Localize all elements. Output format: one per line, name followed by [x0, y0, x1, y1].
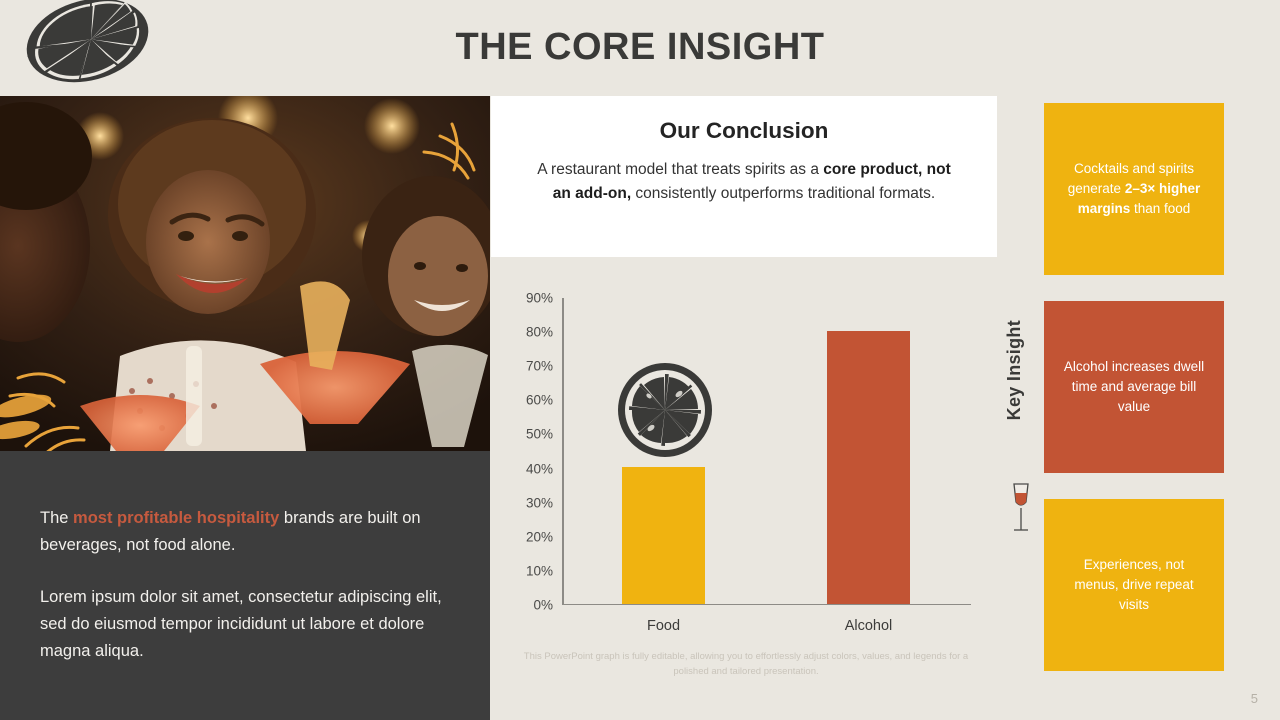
- wine-glass-icon: [1008, 480, 1034, 540]
- insight-1-part-2: than food: [1130, 201, 1190, 216]
- left-paragraph-2: Lorem ipsum dolor sit amet, consectetur …: [40, 584, 450, 664]
- page-number: 5: [1251, 691, 1258, 706]
- bar-chart: 0%10%20%30%40%50%60%70%80%90% Food Alcoh…: [491, 265, 997, 720]
- page-title: THE CORE INSIGHT: [0, 26, 1280, 69]
- insight-card-1[interactable]: Cocktails and spirits generate 2–3× high…: [1044, 103, 1224, 275]
- insight-card-2[interactable]: Alcohol increases dwell time and average…: [1044, 301, 1224, 473]
- conclusion-body-part-2: consistently outperforms traditional for…: [631, 185, 935, 202]
- hero-photo: [0, 96, 490, 451]
- conclusion-card: Our Conclusion A restaurant model that t…: [491, 96, 997, 257]
- x-label-alcohol: Alcohol: [794, 618, 944, 634]
- y-tick-50: 50%: [526, 427, 553, 442]
- key-insight-label: Key Insight: [1004, 320, 1025, 420]
- insight-card-3-text: Experiences, not menus, drive repeat vis…: [1060, 555, 1208, 616]
- y-tick-80: 80%: [526, 325, 553, 340]
- x-label-food: Food: [589, 618, 739, 634]
- bar-food: [622, 467, 705, 603]
- y-tick-0: 0%: [533, 598, 553, 613]
- conclusion-title: Our Conclusion: [535, 118, 953, 144]
- x-axis-line: [562, 604, 971, 606]
- y-axis-line: [562, 298, 564, 605]
- chart-caption: This PowerPoint graph is fully editable,…: [521, 650, 971, 679]
- y-tick-90: 90%: [526, 291, 553, 306]
- left-paragraph-1: The most profitable hospitality brands a…: [40, 505, 450, 558]
- chart-plot-area: 0%10%20%30%40%50%60%70%80%90% Food Alcoh…: [562, 298, 971, 605]
- insight-card-2-text: Alcohol increases dwell time and average…: [1060, 357, 1208, 418]
- insight-card-3[interactable]: Experiences, not menus, drive repeat vis…: [1044, 499, 1224, 671]
- bar-alcohol: [827, 331, 910, 604]
- y-tick-60: 60%: [526, 393, 553, 408]
- y-tick-20: 20%: [526, 529, 553, 544]
- y-tick-70: 70%: [526, 359, 553, 374]
- y-tick-10: 10%: [526, 563, 553, 578]
- left-copy-panel: The most profitable hospitality brands a…: [0, 451, 490, 720]
- conclusion-body-part-1: A restaurant model that treats spirits a…: [537, 161, 823, 178]
- paragraph-1-highlight: most profitable hospitality: [73, 509, 279, 527]
- insight-2-part-1: Alcohol increases dwell time and average…: [1064, 359, 1204, 415]
- y-tick-40: 40%: [526, 461, 553, 476]
- paragraph-1-lead: The: [40, 509, 73, 527]
- conclusion-body: A restaurant model that treats spirits a…: [535, 158, 953, 205]
- insight-3-part-1: Experiences, not menus, drive repeat vis…: [1074, 557, 1193, 613]
- y-tick-30: 30%: [526, 495, 553, 510]
- insight-card-1-text: Cocktails and spirits generate 2–3× high…: [1060, 159, 1208, 220]
